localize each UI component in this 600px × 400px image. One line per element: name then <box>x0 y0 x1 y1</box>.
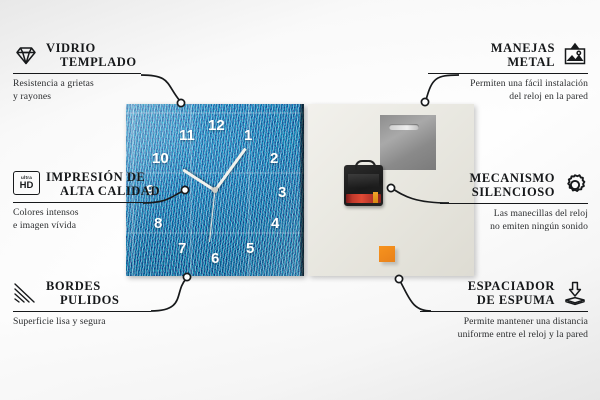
description-line-1: Permite mantener una distancia <box>412 316 588 329</box>
divider <box>420 311 588 312</box>
description-line-1: Superficie lisa y segura <box>13 316 165 329</box>
title-line-2: PULIDOS <box>60 293 119 307</box>
connector-ring-silent-mechanism <box>387 184 394 191</box>
title-line-2: SILENCIOSO <box>469 185 555 199</box>
description-line-2: del reloj en la pared <box>412 91 588 104</box>
connector-ring-tempered-glass <box>177 99 184 106</box>
description-line-2: no emiten ningún sonido <box>428 221 588 234</box>
bevel-lines-icon <box>13 280 39 306</box>
divider <box>13 311 151 312</box>
description-line-2: y rayones <box>13 91 163 104</box>
description-line-2: uniforme entre el reloj y la pared <box>412 329 588 342</box>
connector-ring-high-quality-print <box>181 186 188 193</box>
press-down-pad-icon <box>562 280 588 306</box>
title-line-1: IMPRESIÓN DE <box>46 170 160 184</box>
divider <box>13 202 143 203</box>
ultra-hd-icon: ultra HD <box>13 171 39 197</box>
feature-description: Permite mantener una distancia uniforme … <box>412 316 588 341</box>
feature-description: Superficie lisa y segura <box>13 316 165 329</box>
feature-description: Colores intensos e imagen vívida <box>13 207 165 232</box>
feature-description: Las manecillas del reloj no emiten ningú… <box>428 208 588 233</box>
title-line-2: ALTA CALIDAD <box>60 184 160 198</box>
title-line-1: MANEJAS <box>491 41 555 55</box>
feature-description: Permiten una fácil instalación del reloj… <box>412 78 588 103</box>
feature-title: VIDRIO TEMPLADO <box>46 41 137 69</box>
title-line-1: BORDES <box>46 279 119 293</box>
title-line-1: ESPACIADOR <box>468 279 555 293</box>
ultra-hd-icon-large-text: HD <box>20 181 34 191</box>
feature-high-quality-print: ultra HD IMPRESIÓN DE ALTA CALIDAD Color… <box>13 170 165 232</box>
feature-silent-mechanism: MECANISMO SILENCIOSO Las manecillas del … <box>428 171 588 233</box>
description-line-1: Resistencia a grietas <box>13 78 163 91</box>
divider <box>13 73 141 74</box>
feature-title: BORDES PULIDOS <box>46 279 119 307</box>
title-line-1: VIDRIO <box>46 41 137 55</box>
infographic-canvas: 12 1 2 3 4 5 6 7 8 9 10 11 <box>0 0 600 400</box>
feature-description: Resistencia a grietas y rayones <box>13 78 163 103</box>
description-line-1: Colores intensos <box>13 207 165 220</box>
feature-title: MECANISMO SILENCIOSO <box>469 171 555 199</box>
feature-title: IMPRESIÓN DE ALTA CALIDAD <box>46 170 160 198</box>
feature-foam-spacer: ESPACIADOR DE ESPUMA Permite mantener un… <box>412 279 588 341</box>
gear-icon <box>562 172 588 198</box>
hanging-frame-icon <box>562 42 588 68</box>
feature-metal-hangers: MANEJAS METAL Permiten una fácil instala… <box>412 41 588 103</box>
title-line-2: METAL <box>491 55 555 69</box>
divider <box>440 203 588 204</box>
feature-title: ESPACIADOR DE ESPUMA <box>468 279 555 307</box>
connector-ring-foam-spacer <box>395 275 402 282</box>
description-line-1: Permiten una fácil instalación <box>412 78 588 91</box>
divider <box>428 73 588 74</box>
connector-ring-polished-edges <box>183 273 190 280</box>
diamond-icon <box>13 42 39 68</box>
title-line-2: DE ESPUMA <box>468 293 555 307</box>
description-line-1: Las manecillas del reloj <box>428 208 588 221</box>
description-line-2: e imagen vívida <box>13 220 165 233</box>
feature-title: MANEJAS METAL <box>491 41 555 69</box>
title-line-1: MECANISMO <box>469 171 555 185</box>
feature-tempered-glass: VIDRIO TEMPLADO Resistencia a grietas y … <box>13 41 163 103</box>
title-line-2: TEMPLADO <box>60 55 137 69</box>
feature-polished-edges: BORDES PULIDOS Superficie lisa y segura <box>13 279 165 329</box>
